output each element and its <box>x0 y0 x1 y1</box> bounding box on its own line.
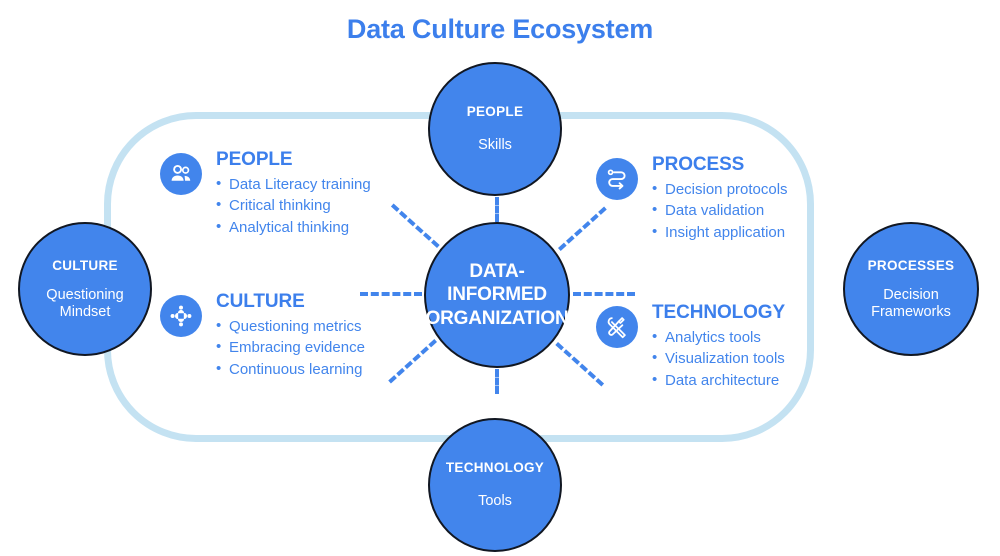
quadrant-technology: TECHNOLOGY Analytics tools Visualization… <box>596 303 785 391</box>
pole-circle-processes[interactable]: PROCESSES Decision Frameworks <box>843 222 979 356</box>
center-hub-label: DATA-INFORMED ORGANIZATION <box>426 260 569 331</box>
quadrant-list-culture: Questioning metrics Embracing evidence C… <box>216 316 365 380</box>
list-item: Data validation <box>652 200 788 221</box>
pole-subtitle-technology: Tools <box>478 493 512 510</box>
pole-title-processes: PROCESSES <box>868 258 955 274</box>
list-item: Analytical thinking <box>216 217 371 238</box>
pole-title-people: PEOPLE <box>467 104 524 120</box>
quadrant-people: PEOPLE Data Literacy training Critical t… <box>160 150 371 238</box>
teamwork-circle-icon <box>160 295 202 337</box>
people-group-icon <box>160 153 202 195</box>
quadrant-body-culture: CULTURE Questioning metrics Embracing ev… <box>216 292 365 380</box>
connector-hub-bottom <box>495 369 499 394</box>
list-item: Visualization tools <box>652 348 785 369</box>
quadrant-heading-culture: CULTURE <box>216 292 365 312</box>
quadrant-body-people: PEOPLE Data Literacy training Critical t… <box>216 150 371 238</box>
connector-hub-top <box>495 197 499 222</box>
pole-subtitle-people: Skills <box>478 137 512 154</box>
quadrant-body-technology: TECHNOLOGY Analytics tools Visualization… <box>652 303 785 391</box>
list-item: Analytics tools <box>652 327 785 348</box>
list-item: Decision protocols <box>652 179 788 200</box>
center-hub-circle[interactable]: DATA-INFORMED ORGANIZATION <box>424 222 570 368</box>
pole-circle-culture[interactable]: CULTURE Questioning Mindset <box>18 222 152 356</box>
list-item: Insight application <box>652 222 788 243</box>
list-item: Critical thinking <box>216 195 371 216</box>
pole-title-culture: CULTURE <box>52 258 118 274</box>
wrench-screwdriver-icon <box>596 306 638 348</box>
pole-subtitle-processes: Decision Frameworks <box>845 287 977 320</box>
pole-subtitle-culture: Questioning Mindset <box>20 287 150 320</box>
quadrant-body-process: PROCESS Decision protocols Data validati… <box>652 155 788 243</box>
quadrant-culture: CULTURE Questioning metrics Embracing ev… <box>160 292 365 380</box>
quadrant-heading-people: PEOPLE <box>216 150 371 170</box>
list-item: Data architecture <box>652 370 785 391</box>
list-item: Questioning metrics <box>216 316 365 337</box>
connector-hub-right <box>573 292 635 296</box>
pole-title-technology: TECHNOLOGY <box>446 460 544 476</box>
connector-hub-left <box>360 292 422 296</box>
list-item: Embracing evidence <box>216 337 365 358</box>
quadrant-list-technology: Analytics tools Visualization tools Data… <box>652 327 785 391</box>
page-title: Data Culture Ecosystem <box>0 14 1000 45</box>
list-item: Data Literacy training <box>216 174 371 195</box>
pole-circle-people[interactable]: PEOPLE Skills <box>428 62 562 196</box>
list-item: Continuous learning <box>216 359 365 380</box>
quadrant-list-process: Decision protocols Data validation Insig… <box>652 179 788 243</box>
diagram-canvas: Data Culture Ecosystem PEOPLE Skills TEC… <box>0 0 1000 556</box>
quadrant-list-people: Data Literacy training Critical thinking… <box>216 174 371 238</box>
quadrant-heading-process: PROCESS <box>652 155 788 175</box>
quadrant-heading-technology: TECHNOLOGY <box>652 303 785 323</box>
process-flow-icon <box>596 158 638 200</box>
quadrant-process: PROCESS Decision protocols Data validati… <box>596 155 788 243</box>
pole-circle-technology[interactable]: TECHNOLOGY Tools <box>428 418 562 552</box>
